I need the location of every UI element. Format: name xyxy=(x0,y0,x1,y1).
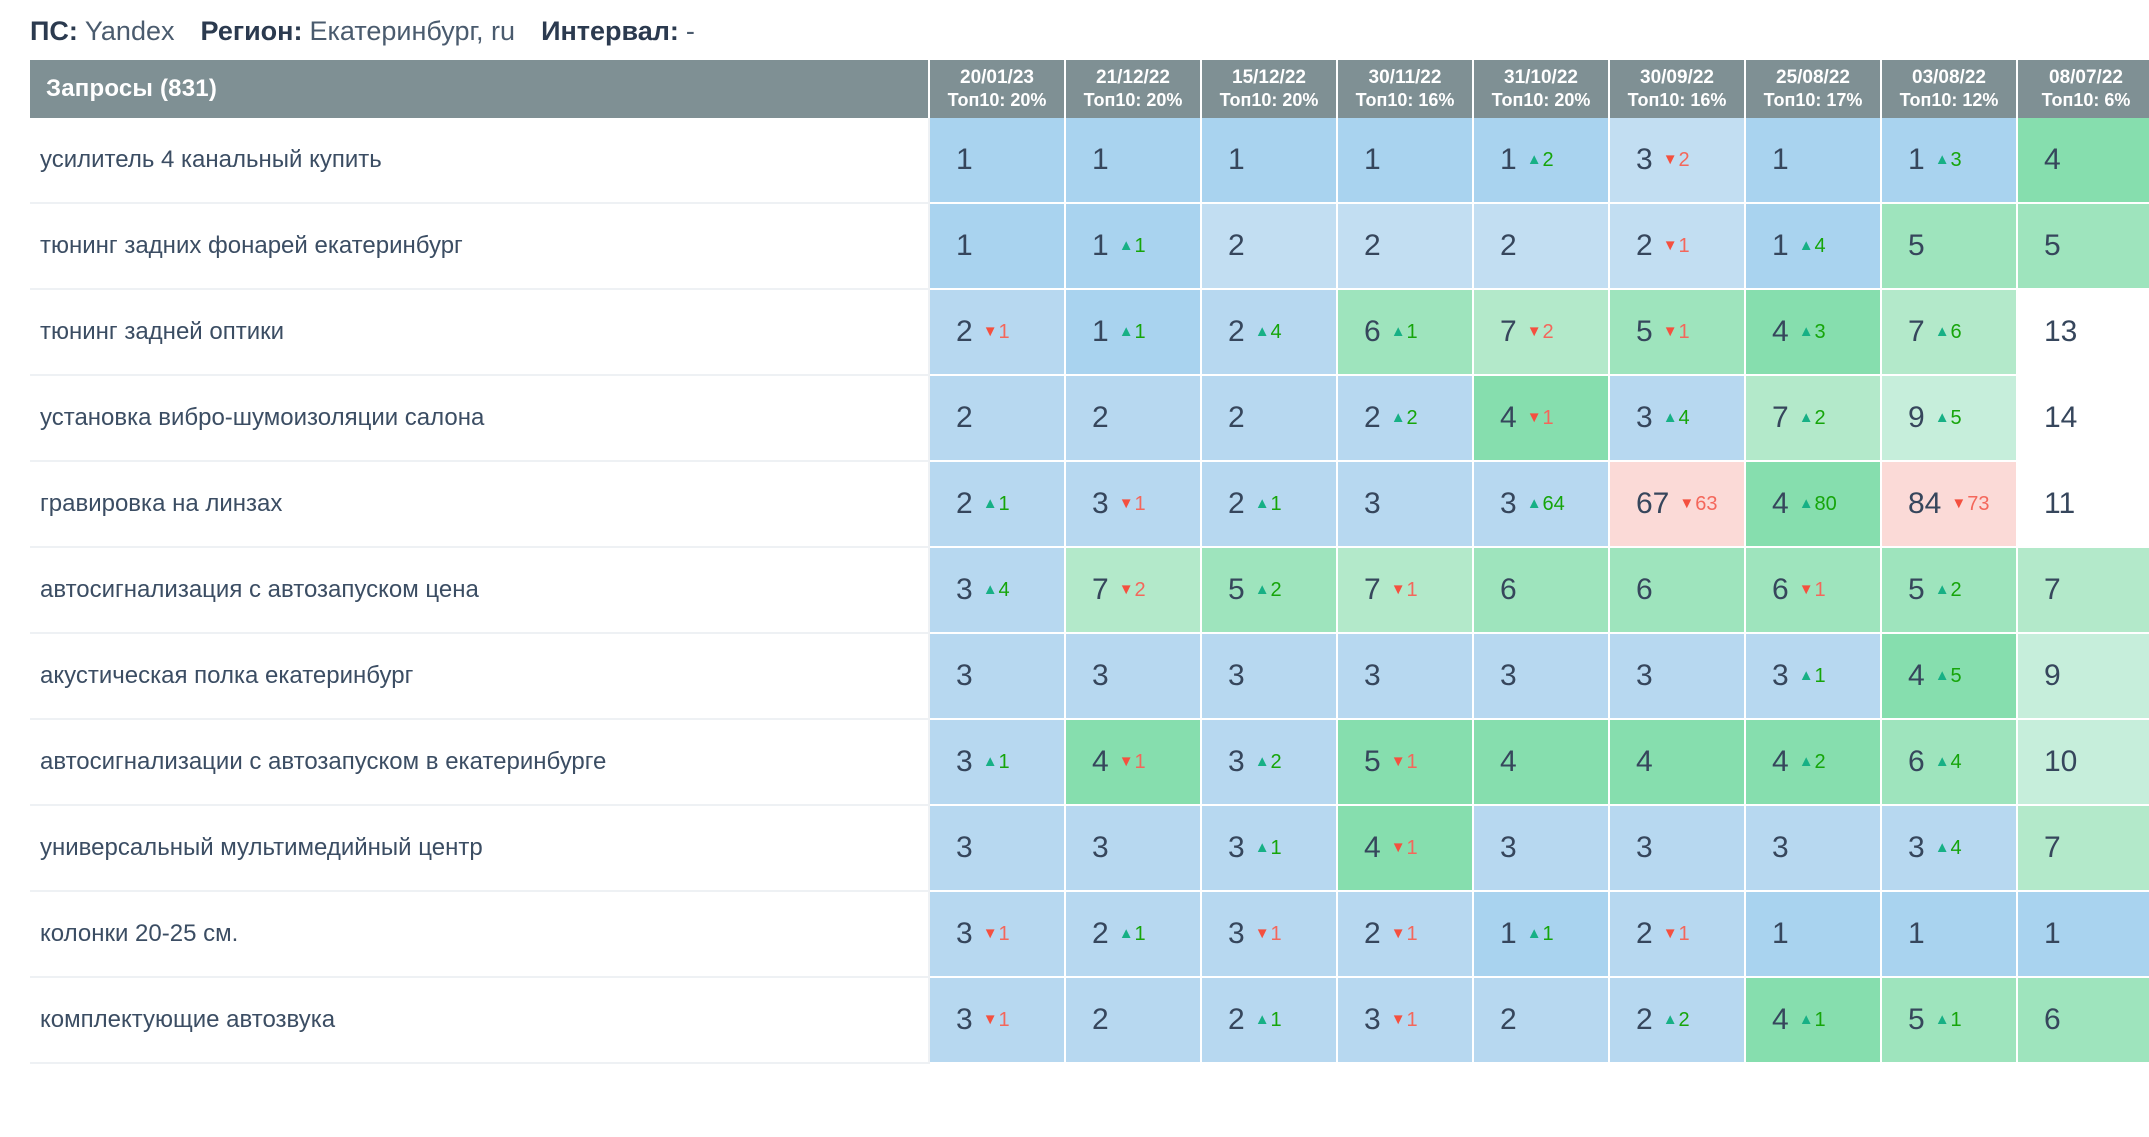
delta-up: ▲2 xyxy=(1391,407,1418,429)
position-value: 2 xyxy=(1364,229,1381,262)
arrow-up-icon: ▲ xyxy=(1527,151,1542,168)
arrow-up-icon: ▲ xyxy=(983,495,998,512)
position-value: 1 xyxy=(956,143,973,176)
delta-value: 80 xyxy=(1815,493,1837,515)
position-cell[interactable]: 1 xyxy=(930,118,1066,204)
position-value: 3 xyxy=(1228,917,1245,950)
position-cell[interactable]: 4 xyxy=(1610,720,1746,806)
position-value: 4 xyxy=(1772,315,1789,348)
position-value: 2 xyxy=(1228,401,1245,434)
position-cell[interactable]: 3▲64 xyxy=(1474,462,1610,548)
arrow-up-icon: ▲ xyxy=(1935,151,1950,168)
position-cell[interactable]: 2▲1 xyxy=(1202,978,1338,1064)
arrow-up-icon: ▲ xyxy=(1255,495,1270,512)
position-cell[interactable]: 1 xyxy=(930,204,1066,290)
position-cell[interactable]: 1▲4 xyxy=(1746,204,1882,290)
position-cell[interactable]: 1▲1 xyxy=(1066,290,1202,376)
position-value: 6 xyxy=(1908,745,1925,778)
position-cell[interactable]: 1 xyxy=(1746,118,1882,204)
query-cell[interactable]: установка вибро-шумоизоляции салона xyxy=(30,376,930,462)
query-cell[interactable]: тюнинг задней оптики xyxy=(30,290,930,376)
delta-up: ▲3 xyxy=(1799,321,1826,343)
position-cell[interactable]: 3▼1 xyxy=(930,978,1066,1064)
position-cell[interactable]: 7▲2 xyxy=(1746,376,1882,462)
position-cell[interactable]: 4▲5 xyxy=(1882,634,2018,720)
position-value: 3 xyxy=(1500,831,1517,864)
position-value: 2 xyxy=(1636,1003,1653,1036)
position-value: 3 xyxy=(1636,831,1653,864)
position-value: 4 xyxy=(1500,745,1517,778)
position-cell[interactable]: 3▲4 xyxy=(1610,376,1746,462)
table-row: универсальный мультимедийный центр333▲14… xyxy=(30,806,2149,892)
delta-value: 2 xyxy=(1951,579,1962,601)
position-cell[interactable]: 3▼1 xyxy=(1338,978,1474,1064)
position-cell[interactable]: 5▲2 xyxy=(1202,548,1338,634)
delta-down: ▼1 xyxy=(1391,837,1418,859)
date-column-header[interactable]: 30/09/22Топ10: 16% xyxy=(1610,60,1746,118)
delta-value: 1 xyxy=(1543,923,1554,945)
delta-value: 3 xyxy=(1951,149,1962,171)
delta-value: 1 xyxy=(1679,235,1690,257)
position-value: 3 xyxy=(1908,831,1925,864)
position-cell[interactable]: 3 xyxy=(1066,634,1202,720)
position-value: 2 xyxy=(1092,401,1109,434)
position-cell[interactable]: 7 xyxy=(2018,548,2149,634)
delta-value: 1 xyxy=(1135,321,1146,343)
arrow-up-icon: ▲ xyxy=(1663,409,1678,426)
position-cell[interactable]: 3▼1 xyxy=(930,892,1066,978)
position-value: 5 xyxy=(2044,229,2061,262)
position-cell[interactable]: 3 xyxy=(930,806,1066,892)
date-column-date: 30/09/22 xyxy=(1610,66,1744,89)
position-cell[interactable]: 3▲2 xyxy=(1202,720,1338,806)
position-value: 2 xyxy=(1092,917,1109,950)
position-cell[interactable]: 2 xyxy=(1338,204,1474,290)
date-column-date: 30/11/22 xyxy=(1338,66,1472,89)
position-value: 1 xyxy=(1092,315,1109,348)
position-value: 3 xyxy=(1228,659,1245,692)
query-cell[interactable]: автосигнализации с автозапуском в екатер… xyxy=(30,720,930,806)
date-column-top10: Топ10: 20% xyxy=(1202,89,1336,112)
position-value: 2 xyxy=(1364,401,1381,434)
meta-interval-value: - xyxy=(686,16,695,46)
position-cell[interactable]: 7▼2 xyxy=(1474,290,1610,376)
delta-up: ▲4 xyxy=(1935,751,1962,773)
arrow-up-icon: ▲ xyxy=(1527,495,1542,512)
date-column-header[interactable]: 20/01/23Топ10: 20% xyxy=(930,60,1066,118)
position-value: 1 xyxy=(956,229,973,262)
date-column-header[interactable]: 31/10/22Топ10: 20% xyxy=(1474,60,1610,118)
arrow-down-icon: ▼ xyxy=(1391,753,1406,770)
table-row: акустическая полка екатеринбург3333333▲1… xyxy=(30,634,2149,720)
position-cell[interactable]: 1▲2 xyxy=(1474,118,1610,204)
arrow-up-icon: ▲ xyxy=(1391,323,1406,340)
delta-up: ▲64 xyxy=(1527,493,1565,515)
delta-value: 1 xyxy=(1407,321,1418,343)
delta-value: 64 xyxy=(1543,493,1565,515)
position-value: 1 xyxy=(1772,917,1789,950)
positions-table-container: Запросы (831) 20/01/23Топ10: 20%21/12/22… xyxy=(0,60,2149,1064)
position-value: 3 xyxy=(956,745,973,778)
position-cell[interactable]: 3▲1 xyxy=(1202,806,1338,892)
position-cell[interactable]: 6▲1 xyxy=(1338,290,1474,376)
position-value: 2 xyxy=(956,315,973,348)
position-value: 11 xyxy=(2044,487,2075,520)
position-cell[interactable]: 1 xyxy=(1746,892,1882,978)
table-row: тюнинг задней оптики2▼11▲12▲46▲17▼25▼14▲… xyxy=(30,290,2149,376)
position-cell[interactable]: 2 xyxy=(1474,978,1610,1064)
position-cell[interactable]: 2▼1 xyxy=(1610,204,1746,290)
position-cell[interactable]: 2▲1 xyxy=(930,462,1066,548)
date-column-top10: Топ10: 16% xyxy=(1610,89,1744,112)
position-cell[interactable]: 1 xyxy=(2018,892,2149,978)
position-cell[interactable]: 2▲1 xyxy=(1202,462,1338,548)
meta-engine-label: ПС: xyxy=(30,16,78,46)
position-cell[interactable]: 2▲2 xyxy=(1338,376,1474,462)
arrow-down-icon: ▼ xyxy=(983,323,998,340)
position-cell[interactable]: 3 xyxy=(1338,634,1474,720)
delta-down: ▼2 xyxy=(1663,149,1690,171)
delta-value: 2 xyxy=(1543,149,1554,171)
position-cell[interactable]: 7 xyxy=(2018,806,2149,892)
position-value: 3 xyxy=(1092,487,1109,520)
position-cell[interactable]: 9 xyxy=(2018,634,2149,720)
position-cell[interactable]: 3▲4 xyxy=(1882,806,2018,892)
delta-down: ▼2 xyxy=(1119,579,1146,601)
position-cell[interactable]: 3 xyxy=(1746,806,1882,892)
position-cell[interactable]: 4▼1 xyxy=(1066,720,1202,806)
position-cell[interactable]: 1 xyxy=(1066,118,1202,204)
position-cell[interactable]: 2▼1 xyxy=(1338,892,1474,978)
position-cell[interactable]: 2▼1 xyxy=(1610,892,1746,978)
position-cell[interactable]: 1 xyxy=(1338,118,1474,204)
arrow-up-icon: ▲ xyxy=(1799,667,1814,684)
date-column-header[interactable]: 03/08/22Топ10: 12% xyxy=(1882,60,2018,118)
date-column-top10: Топ10: 20% xyxy=(1474,89,1608,112)
position-cell[interactable]: 84▼73 xyxy=(1882,462,2018,548)
position-value: 6 xyxy=(1636,573,1653,606)
arrow-up-icon: ▲ xyxy=(1799,323,1814,340)
position-value: 1 xyxy=(1908,143,1925,176)
position-cell[interactable]: 11 xyxy=(2018,462,2149,548)
meta-region-value: Екатеринбург, ru xyxy=(309,16,515,46)
date-column-date: 25/08/22 xyxy=(1746,66,1880,89)
arrow-down-icon: ▼ xyxy=(1799,581,1814,598)
arrow-down-icon: ▼ xyxy=(1391,925,1406,942)
position-cell[interactable]: 3 xyxy=(930,634,1066,720)
position-value: 7 xyxy=(2044,573,2061,606)
position-cell[interactable]: 3 xyxy=(1066,806,1202,892)
delta-down: ▼2 xyxy=(1527,321,1554,343)
position-cell[interactable]: 3 xyxy=(1202,634,1338,720)
position-cell[interactable]: 4▲2 xyxy=(1746,720,1882,806)
position-cell[interactable]: 3 xyxy=(1474,806,1610,892)
query-cell[interactable]: тюнинг задних фонарей екатеринбург xyxy=(30,204,930,290)
position-cell[interactable]: 5▲2 xyxy=(1882,548,2018,634)
position-cell[interactable]: 2 xyxy=(1474,204,1610,290)
delta-up: ▲5 xyxy=(1935,665,1962,687)
position-cell[interactable]: 4 xyxy=(2018,118,2149,204)
delta-value: 2 xyxy=(1815,751,1826,773)
delta-value: 4 xyxy=(1815,235,1826,257)
delta-up: ▲4 xyxy=(1663,407,1690,429)
position-value: 2 xyxy=(1228,315,1245,348)
position-cell[interactable]: 5 xyxy=(1882,204,2018,290)
position-cell[interactable]: 2▼1 xyxy=(930,290,1066,376)
delta-value: 1 xyxy=(1271,1009,1282,1031)
delta-up: ▲80 xyxy=(1799,493,1837,515)
position-cell[interactable]: 2 xyxy=(1066,978,1202,1064)
delta-value: 1 xyxy=(1407,579,1418,601)
arrow-up-icon: ▲ xyxy=(1799,237,1814,254)
delta-up: ▲1 xyxy=(1527,923,1554,945)
position-cell[interactable]: 3▼2 xyxy=(1610,118,1746,204)
position-value: 3 xyxy=(1772,831,1789,864)
arrow-up-icon: ▲ xyxy=(1935,1011,1950,1028)
date-column-top10: Топ10: 17% xyxy=(1746,89,1880,112)
position-cell[interactable]: 4 xyxy=(1474,720,1610,806)
arrow-down-icon: ▼ xyxy=(1119,495,1134,512)
date-column-date: 08/07/22 xyxy=(2018,66,2149,89)
delta-down: ▼1 xyxy=(1391,751,1418,773)
position-cell[interactable]: 14 xyxy=(2018,376,2149,462)
delta-down: ▼1 xyxy=(1663,235,1690,257)
position-value: 3 xyxy=(956,659,973,692)
arrow-up-icon: ▲ xyxy=(1935,409,1950,426)
position-cell[interactable]: 6▼1 xyxy=(1746,548,1882,634)
position-cell[interactable]: 10 xyxy=(2018,720,2149,806)
position-cell[interactable]: 3 xyxy=(1610,634,1746,720)
position-value: 2 xyxy=(1228,229,1245,262)
arrow-down-icon: ▼ xyxy=(983,925,998,942)
position-value: 3 xyxy=(1500,487,1517,520)
delta-down: ▼1 xyxy=(983,923,1010,945)
delta-value: 1 xyxy=(1951,1009,1962,1031)
query-cell[interactable]: комплектующие автозвука xyxy=(30,978,930,1064)
position-cell[interactable]: 1▲1 xyxy=(1474,892,1610,978)
position-value: 5 xyxy=(1908,1003,1925,1036)
position-cell[interactable]: 2 xyxy=(1202,204,1338,290)
position-cell[interactable]: 3▲1 xyxy=(930,720,1066,806)
position-cell[interactable]: 3 xyxy=(1610,806,1746,892)
position-value: 6 xyxy=(2044,1003,2061,1036)
table-row: гравировка на линзах2▲13▼12▲133▲6467▼634… xyxy=(30,462,2149,548)
position-value: 4 xyxy=(2044,143,2061,176)
position-value: 1 xyxy=(1908,917,1925,950)
position-cell[interactable]: 3▲1 xyxy=(1746,634,1882,720)
delta-up: ▲2 xyxy=(1527,149,1554,171)
position-value: 3 xyxy=(956,1003,973,1036)
position-cell[interactable]: 3 xyxy=(1474,634,1610,720)
delta-value: 1 xyxy=(1815,665,1826,687)
position-cell[interactable]: 4▲80 xyxy=(1746,462,1882,548)
position-cell[interactable]: 6 xyxy=(1474,548,1610,634)
date-column-header[interactable]: 15/12/22Топ10: 20% xyxy=(1202,60,1338,118)
position-cell[interactable]: 5▼1 xyxy=(1338,720,1474,806)
query-cell[interactable]: автосигнализация с автозапуском цена xyxy=(30,548,930,634)
position-cell[interactable]: 6 xyxy=(2018,978,2149,1064)
position-cell[interactable]: 2▲2 xyxy=(1610,978,1746,1064)
position-value: 2 xyxy=(956,401,973,434)
position-value: 5 xyxy=(1364,745,1381,778)
query-cell[interactable]: акустическая полка екатеринбург xyxy=(30,634,930,720)
table-row: усилитель 4 канальный купить11111▲23▼211… xyxy=(30,118,2149,204)
delta-up: ▲1 xyxy=(1119,235,1146,257)
meta-interval: Интервал:- xyxy=(541,14,695,48)
delta-value: 73 xyxy=(1967,493,1989,515)
position-cell[interactable]: 1▲1 xyxy=(1066,204,1202,290)
position-cell[interactable]: 2 xyxy=(1066,376,1202,462)
delta-up: ▲1 xyxy=(1119,923,1146,945)
position-value: 5 xyxy=(1908,573,1925,606)
arrow-down-icon: ▼ xyxy=(1663,237,1678,254)
delta-value: 6 xyxy=(1951,321,1962,343)
position-cell[interactable]: 4▼1 xyxy=(1474,376,1610,462)
position-value: 13 xyxy=(2044,315,2077,348)
position-value: 1 xyxy=(1228,143,1245,176)
position-cell[interactable]: 3▼1 xyxy=(1202,892,1338,978)
position-value: 67 xyxy=(1636,487,1669,520)
position-cell[interactable]: 4▲1 xyxy=(1746,978,1882,1064)
position-value: 4 xyxy=(1500,401,1517,434)
delta-value: 1 xyxy=(1271,493,1282,515)
position-cell[interactable]: 3▲4 xyxy=(930,548,1066,634)
position-value: 14 xyxy=(2044,401,2077,434)
position-cell[interactable]: 2 xyxy=(1202,376,1338,462)
date-column-header[interactable]: 21/12/22Топ10: 20% xyxy=(1066,60,1202,118)
position-value: 2 xyxy=(956,487,973,520)
position-value: 1 xyxy=(1364,143,1381,176)
delta-value: 1 xyxy=(999,923,1010,945)
table-row: установка вибро-шумоизоляции салона2222▲… xyxy=(30,376,2149,462)
position-cell[interactable]: 7▼2 xyxy=(1066,548,1202,634)
arrow-up-icon: ▲ xyxy=(1935,753,1950,770)
date-column-header[interactable]: 08/07/22Топ10: 6% xyxy=(2018,60,2149,118)
delta-value: 1 xyxy=(999,321,1010,343)
delta-up: ▲1 xyxy=(983,751,1010,773)
position-cell[interactable]: 6 xyxy=(1610,548,1746,634)
position-cell[interactable]: 4▲3 xyxy=(1746,290,1882,376)
arrow-up-icon: ▲ xyxy=(1255,1011,1270,1028)
position-value: 5 xyxy=(1228,573,1245,606)
delta-value: 1 xyxy=(1407,1009,1418,1031)
arrow-down-icon: ▼ xyxy=(1951,495,1966,512)
position-cell[interactable]: 3▼1 xyxy=(1066,462,1202,548)
query-cell[interactable]: гравировка на линзах xyxy=(30,462,930,548)
position-value: 2 xyxy=(1500,229,1517,262)
delta-value: 3 xyxy=(1815,321,1826,343)
arrow-down-icon: ▼ xyxy=(1255,925,1270,942)
delta-up: ▲1 xyxy=(1255,1009,1282,1031)
position-cell[interactable]: 5 xyxy=(2018,204,2149,290)
position-value: 9 xyxy=(1908,401,1925,434)
arrow-up-icon: ▲ xyxy=(983,753,998,770)
table-body: усилитель 4 канальный купить11111▲23▼211… xyxy=(30,118,2149,1064)
position-cell[interactable]: 7▼1 xyxy=(1338,548,1474,634)
position-cell[interactable]: 1▲3 xyxy=(1882,118,2018,204)
position-value: 4 xyxy=(1772,487,1789,520)
position-value: 7 xyxy=(1908,315,1925,348)
position-value: 10 xyxy=(2044,745,2077,778)
date-column-header[interactable]: 25/08/22Топ10: 17% xyxy=(1746,60,1882,118)
position-cell[interactable]: 67▼63 xyxy=(1610,462,1746,548)
delta-down: ▼1 xyxy=(1119,751,1146,773)
position-value: 1 xyxy=(1092,229,1109,262)
position-value: 7 xyxy=(1092,573,1109,606)
delta-value: 1 xyxy=(1135,923,1146,945)
position-cell[interactable]: 5▲1 xyxy=(1882,978,2018,1064)
delta-value: 1 xyxy=(1815,579,1826,601)
delta-up: ▲1 xyxy=(1255,837,1282,859)
position-value: 1 xyxy=(1092,143,1109,176)
position-value: 3 xyxy=(956,831,973,864)
position-cell[interactable]: 3 xyxy=(1338,462,1474,548)
query-cell[interactable]: усилитель 4 канальный купить xyxy=(30,118,930,204)
arrow-up-icon: ▲ xyxy=(983,581,998,598)
date-column-top10: Топ10: 6% xyxy=(2018,89,2149,112)
position-cell[interactable]: 13 xyxy=(2018,290,2149,376)
delta-up: ▲4 xyxy=(1799,235,1826,257)
delta-value: 4 xyxy=(1951,751,1962,773)
table-head: Запросы (831) 20/01/23Топ10: 20%21/12/22… xyxy=(30,60,2149,118)
meta-region-label: Регион: xyxy=(200,16,302,46)
position-value: 3 xyxy=(1636,401,1653,434)
position-cell[interactable]: 2 xyxy=(930,376,1066,462)
position-cell[interactable]: 7▲6 xyxy=(1882,290,2018,376)
position-cell[interactable]: 1 xyxy=(1202,118,1338,204)
arrow-down-icon: ▼ xyxy=(1663,151,1678,168)
position-cell[interactable]: 9▲5 xyxy=(1882,376,2018,462)
delta-value: 1 xyxy=(1135,235,1146,257)
arrow-down-icon: ▼ xyxy=(1527,409,1542,426)
position-cell[interactable]: 1 xyxy=(1882,892,2018,978)
position-cell[interactable]: 6▲4 xyxy=(1882,720,2018,806)
delta-up: ▲4 xyxy=(1935,837,1962,859)
position-cell[interactable]: 5▼1 xyxy=(1610,290,1746,376)
queries-column-header[interactable]: Запросы (831) xyxy=(30,60,930,118)
arrow-up-icon: ▲ xyxy=(1527,925,1542,942)
date-column-date: 31/10/22 xyxy=(1474,66,1608,89)
position-value: 3 xyxy=(956,917,973,950)
position-cell[interactable]: 4▼1 xyxy=(1338,806,1474,892)
positions-table: Запросы (831) 20/01/23Топ10: 20%21/12/22… xyxy=(30,60,2149,1064)
position-value: 2 xyxy=(1228,1003,1245,1036)
delta-value: 2 xyxy=(1407,407,1418,429)
arrow-down-icon: ▼ xyxy=(1119,753,1134,770)
delta-up: ▲1 xyxy=(1799,665,1826,687)
delta-down: ▼1 xyxy=(1119,493,1146,515)
arrow-down-icon: ▼ xyxy=(1391,1011,1406,1028)
position-cell[interactable]: 2▲1 xyxy=(1066,892,1202,978)
arrow-down-icon: ▼ xyxy=(1527,323,1542,340)
arrow-up-icon: ▲ xyxy=(1255,753,1270,770)
table-header-row: Запросы (831) 20/01/23Топ10: 20%21/12/22… xyxy=(30,60,2149,118)
delta-down: ▼1 xyxy=(983,1009,1010,1031)
delta-up: ▲5 xyxy=(1935,407,1962,429)
meta-region: Регион:Екатеринбург, ru xyxy=(200,14,515,48)
position-cell[interactable]: 2▲4 xyxy=(1202,290,1338,376)
delta-down: ▼63 xyxy=(1679,493,1717,515)
arrow-up-icon: ▲ xyxy=(1119,925,1134,942)
position-value: 2 xyxy=(1092,1003,1109,1036)
delta-up: ▲2 xyxy=(1799,751,1826,773)
arrow-up-icon: ▲ xyxy=(1391,409,1406,426)
delta-down: ▼1 xyxy=(1255,923,1282,945)
query-cell[interactable]: колонки 20-25 см. xyxy=(30,892,930,978)
date-column-header[interactable]: 30/11/22Топ10: 16% xyxy=(1338,60,1474,118)
query-cell[interactable]: универсальный мультимедийный центр xyxy=(30,806,930,892)
date-column-date: 20/01/23 xyxy=(930,66,1064,89)
